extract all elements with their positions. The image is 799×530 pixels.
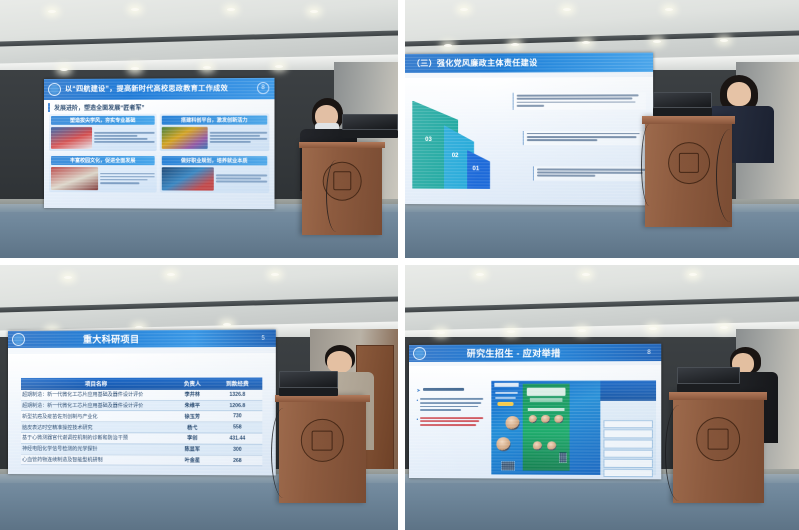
- projection-screen: （三）强化党风廉政主体责任建设 03 02 01 制定《2023年药学: [405, 53, 653, 206]
- slide-body: 项目名称 负责人 到款经费 超期制造：新一代微化工芯片应用基础及器件设计评价 李…: [8, 353, 275, 476]
- photo-panel-top-right: （三）强化党风廉政主体责任建设 03 02 01 制定《2023年药学: [405, 0, 799, 258]
- qr-code-icon: [501, 461, 514, 470]
- slide-card-bullets: [210, 126, 267, 148]
- slide-title: 研究生招生 - 应对举措: [467, 346, 561, 360]
- column-header-leader: 负责人: [172, 378, 213, 390]
- bullet-text-highlight: 全国优秀大学生夏令营、“推免创新计划”，各类招生培养环节中完善衔接，招募优秀学子…: [420, 416, 486, 427]
- laptop-screen: [653, 92, 712, 109]
- wall-light: [275, 65, 283, 68]
- poster-line: [496, 396, 516, 398]
- photo-panel-top-left: 以“四航建设”，提高新时代高校思政教育工作成效 8 发展进阶，塑造全面发展“匠者…: [0, 0, 398, 258]
- slide-page-number: 8: [257, 82, 269, 94]
- poster-side-panel: [600, 380, 656, 475]
- slide-text-block: 制定《2023年药学院党风廉政建设工作计划》《2023年药学院党政领导班子成员全…: [513, 93, 645, 111]
- university-logo-icon: [48, 82, 61, 95]
- qr-code-icon: [559, 452, 566, 462]
- poster-line: [529, 397, 562, 401]
- chevron-right-icon: ➤: [416, 389, 420, 394]
- ceiling-downlight: [476, 273, 484, 276]
- slide-bullet-item: • 制作学院招生宣传片和各类形式的学院宣传册（图册、公众号、视频号、直播学院网站…: [416, 398, 486, 412]
- side-panel-row: [603, 439, 653, 448]
- slide-photo-thumbnail: [51, 166, 98, 189]
- bullet-dot-icon: •: [416, 399, 418, 412]
- podium-top: [299, 142, 385, 149]
- slide-body: 发展进阶，塑造全面发展“匠者军” 塑造拔尖学风，夯实专业基础 搭建科创平台，激发…: [44, 99, 274, 209]
- side-panel-row: [603, 429, 653, 438]
- slide-card: 塑造拔尖学风，夯实专业基础: [49, 113, 157, 150]
- recruitment-poster: 研究生招生宣传海报（含人物头像、二维码）: [491, 380, 601, 475]
- laptop-screen: [342, 114, 398, 131]
- slide-card-caption: 搭建科创平台，激发创新活力: [161, 115, 266, 124]
- cell-project-name: 超期制造：新一代微化工芯片应用基础及器件设计评价: [21, 390, 172, 400]
- bullet-text: 制作学院招生宣传片和各类形式的学院宣传册（图册、公众号、视频号、直播学院网站），…: [420, 398, 486, 412]
- projection-screen: 重大科研项目 5 项目名称 负责人 到款经费: [8, 330, 275, 476]
- laptop: [342, 130, 398, 138]
- side-panel-row: [603, 468, 653, 477]
- cable: [271, 408, 296, 498]
- slide-card-caption: 塑造拔尖学风，夯实专业基础: [51, 115, 155, 124]
- cell-funding: 1206.8: [213, 400, 262, 411]
- cell-leader: 杨弋: [172, 422, 213, 433]
- slide-photo-thumbnail: [51, 126, 92, 148]
- table-row: 超期制造：新一代微化工芯片应用基础及器件设计评价 朱维平 1206.8: [21, 400, 262, 411]
- podium-top: [669, 392, 767, 400]
- column-header-funding: 到款经费: [213, 378, 262, 390]
- poster-line: [496, 391, 518, 393]
- university-logo-icon: [413, 347, 426, 360]
- speaker-head: [727, 82, 751, 106]
- slide-photo-thumbnail: [161, 126, 207, 148]
- table-header-row: 项目名称 负责人 到款经费: [21, 378, 262, 390]
- poster-subtitle: [528, 407, 565, 410]
- carpeted-floor: [405, 204, 799, 258]
- cell-leader: 李井林: [172, 390, 213, 400]
- avatar: [541, 414, 550, 423]
- slide-card: 丰富校园文化，促进全面发展: [49, 153, 157, 191]
- slide-title-bar: （三）强化党风廉政主体责任建设: [405, 53, 653, 74]
- wall-light: [511, 43, 519, 46]
- slide-card-bullets: [216, 167, 267, 190]
- slide-title-bar: 以“四航建设”，提高新时代高校思政教育工作成效 8: [44, 78, 274, 100]
- cell-funding: 558: [213, 422, 262, 433]
- cell-funding: 1326.8: [213, 390, 262, 400]
- table-body: 超期制造：新一代微化工芯片应用基础及器件设计评价 李井林 1326.8 超期制造…: [21, 390, 262, 466]
- ceiling-downlight: [665, 8, 673, 11]
- slide-card: 做好职业规划，培养就业本质: [159, 153, 269, 192]
- cell-project-name: 超期制造：新一代微化工芯片应用基础及器件设计评价: [21, 400, 172, 411]
- avatar: [547, 441, 556, 450]
- wall-light: [578, 329, 586, 332]
- slide-photo-thumbnail: [161, 167, 213, 190]
- slide-title: 以“四航建设”，提高新时代高校思政教育工作成效: [65, 83, 228, 94]
- slide-card-caption: 丰富校园文化，促进全面发展: [51, 155, 155, 164]
- avatar: [533, 441, 542, 450]
- slide-body: ➤ 加大研究生招生宣传力度 • 制作学院招生宣传片和各类形式的学院宣传册（图册、…: [409, 365, 661, 478]
- projection-screen: 研究生招生 - 应对举措 8 ➤ 加大研究生招生宣传力度 •: [409, 343, 661, 478]
- side-panel-row: [603, 449, 653, 458]
- university-emblem-icon: [668, 142, 710, 184]
- cable: [665, 405, 694, 500]
- ceiling-downlight: [460, 8, 468, 11]
- university-emblem-icon: [301, 419, 343, 461]
- table-row: 新型抗癌及疫苗佐剂创制与产业化 徐玉芳 730: [21, 411, 262, 422]
- photo-panel-bottom-left: 重大科研项目 5 项目名称 负责人 到款经费: [0, 265, 398, 530]
- wall-light: [203, 66, 211, 69]
- ceiling-downlight: [167, 273, 175, 276]
- cell-project-name: 基于心微测器官代谢调控机制的诊断和防治干预: [21, 433, 172, 444]
- table-row: 超期制造：新一代微化工芯片应用基础及器件设计评价 李井林 1326.8: [21, 390, 262, 401]
- slide-bullet-list: ➤ 加大研究生招生宣传力度 • 制作学院招生宣传片和各类形式的学院宣传册（图册、…: [416, 388, 486, 431]
- laptop: [279, 388, 339, 396]
- bullet-text: 加大研究生招生宣传力度: [423, 388, 487, 394]
- slide-page-number: 5: [258, 333, 268, 343]
- cell-leader: 徐玉芳: [172, 411, 213, 422]
- side-panel-header: [600, 380, 656, 401]
- laptop: [677, 384, 740, 392]
- slide-card: 搭建科创平台，激发创新活力: [159, 113, 269, 151]
- photo-collage: 以“四航建设”，提高新时代高校思政教育工作成效 8 发展进阶，塑造全面发展“匠者…: [0, 0, 799, 530]
- ceiling-downlight: [227, 8, 235, 11]
- university-emblem-icon: [696, 417, 740, 461]
- ceiling-downlight: [64, 276, 72, 279]
- speaker-head: [327, 351, 352, 373]
- side-panel-row: [603, 458, 653, 467]
- cell-project-name: 新型抗癌及疫苗佐剂创制与产业化: [21, 411, 172, 422]
- slide-text-block: 认真落实《药学院党委委员会议事规则》《药学院党政联席会议事规则》和《药学院“三重…: [523, 131, 648, 145]
- laptop-screen: [279, 371, 339, 388]
- sail-label-02: 02: [452, 153, 459, 159]
- podium-top: [642, 116, 736, 124]
- sail-label-01: 01: [472, 166, 479, 172]
- side-panel-row: [603, 419, 653, 428]
- laptop-screen: [677, 367, 740, 384]
- laptop: [653, 108, 712, 116]
- projection-screen: 以“四航建设”，提高新时代高校思政教育工作成效 8 发展进阶，塑造全面发展“匠者…: [44, 78, 274, 209]
- avatar: [497, 436, 511, 450]
- poster-badge: [498, 402, 513, 406]
- slide-bullet-item: • 全国优秀大学生夏令营、“推免创新计划”，各类招生培养环节中完善衔接，招募优秀…: [416, 416, 486, 427]
- sail-chart: 03 02 01: [412, 101, 500, 190]
- poster-header-logo: [494, 383, 518, 387]
- cable: [716, 129, 745, 222]
- photo-panel-bottom-right: 研究生招生 - 应对举措 8 ➤ 加大研究生招生宣传力度 •: [405, 265, 799, 530]
- avatar: [600, 401, 618, 419]
- table-row: 心血管药物连续制造及智能型机研制 叶金星 268: [21, 454, 262, 466]
- slide-text-block: 依规召开党委会16次、党政联席会21次，并修改所有记录纪要，拟定修改各类报告材料…: [533, 166, 653, 180]
- slide-body: 03 02 01 制定《2023年药学院党风廉政建设工作计划》《2023年药学院…: [405, 77, 653, 205]
- ceiling-downlight: [563, 8, 571, 11]
- cell-funding: 300: [213, 444, 262, 455]
- ceiling-downlight: [271, 273, 279, 276]
- research-project-table: 项目名称 负责人 到款经费 超期制造：新一代微化工芯片应用基础及器件设计评价 李…: [21, 378, 262, 471]
- avatar: [528, 414, 537, 423]
- slide-title: 重大科研项目: [83, 333, 140, 346]
- table: 项目名称 负责人 到款经费 超期制造：新一代微化工芯片应用基础及器件设计评价 李…: [21, 378, 262, 467]
- slide-section-heading: 发展进阶，塑造全面发展“匠者军”: [48, 102, 274, 112]
- cell-leader: 陈显军: [172, 444, 213, 455]
- avatar: [505, 416, 519, 430]
- cell-project-name: 心血管药物连续制造及智能型机研制: [21, 454, 172, 466]
- slide-card-bullets: [94, 126, 154, 148]
- slide-card-bullets: [100, 166, 154, 189]
- cell-leader: 李创: [172, 433, 213, 444]
- slide-title-bar: 研究生招生 - 应对举措 8: [409, 343, 661, 362]
- wall-light: [720, 39, 728, 42]
- cell-leader: 朱维平: [172, 400, 213, 411]
- slide-bullet-item: ➤ 加大研究生招生宣传力度: [416, 388, 486, 394]
- column-header-project-name: 项目名称: [21, 378, 172, 390]
- cell-leader: 叶金星: [172, 455, 213, 466]
- ceiling-downlight: [131, 8, 139, 11]
- bullet-dot-icon: •: [416, 417, 418, 427]
- wall-light: [720, 326, 728, 329]
- cell-project-name: 脑皮表达时空精准操控技术研究: [21, 422, 172, 433]
- slide-card-grid: 塑造拔尖学风，夯实专业基础 搭建科创平台，激发创新活力: [44, 113, 274, 192]
- cell-funding: 730: [213, 411, 262, 422]
- slide-page-number: 8: [644, 347, 654, 357]
- sail-label-03: 03: [425, 138, 432, 144]
- slide-card-caption: 做好职业规划，培养就业本质: [161, 155, 266, 164]
- sail-segment-01: 01: [467, 150, 490, 189]
- avatar: [554, 414, 563, 423]
- slide-title: （三）强化党风廉政主体责任建设: [412, 58, 538, 70]
- ceiling-downlight: [689, 273, 697, 276]
- cell-funding: 268: [213, 455, 262, 466]
- poster-inner-panel: 研究生招生宣传海报（含人物头像、二维码）: [523, 384, 569, 471]
- cell-funding: 431.44: [213, 433, 262, 444]
- slide-title-bar: 重大科研项目 5: [8, 330, 275, 349]
- poster-banner: [527, 387, 566, 395]
- university-logo-icon: [12, 333, 25, 346]
